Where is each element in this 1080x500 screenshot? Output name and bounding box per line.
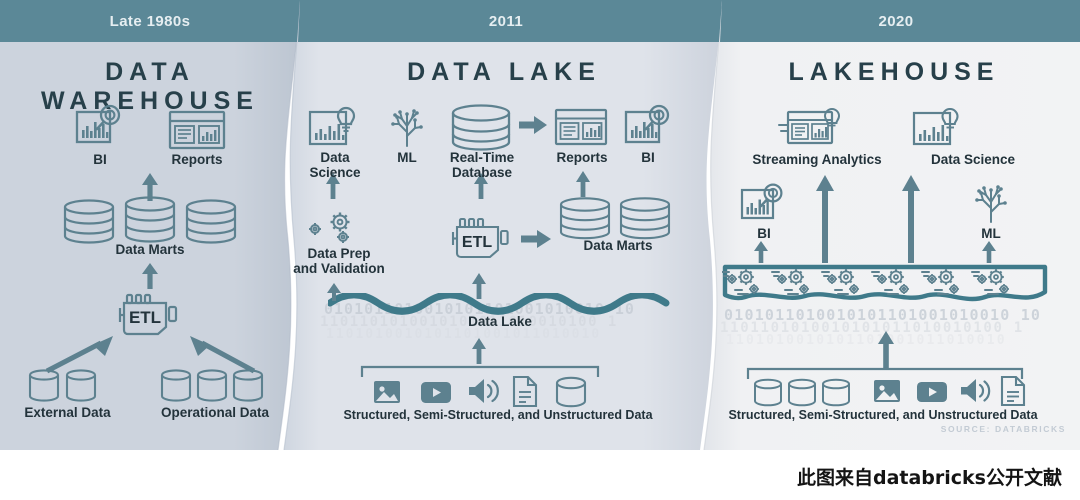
lake-binary-row-3: 1101010010101101001011010010 [326,327,601,342]
arrow-engine-to-datascience [900,174,922,269]
document-file-icon-lakehouse [1000,376,1026,411]
column-title-data-lake: DATA LAKE [288,58,720,87]
lakehouse-sources-label: Structured, Semi-Structured, and Unstruc… [690,408,1080,423]
ml-label: ML [377,150,437,165]
external-data-label: External Data [5,405,130,420]
bi-label-lakehouse: BI [734,226,794,241]
realtime-database-line1: Real-Time [450,150,514,165]
data-science-label-lakehouse: Data Science [898,152,1048,167]
reports-label: Reports [157,152,237,167]
reports-label-lake: Reports [544,150,620,165]
arrow-realtime-to-reports [518,114,548,141]
image-file-icon-lakehouse [872,378,902,410]
data-prep-line2: and Validation [293,261,385,276]
streaming-analytics-label: Streaming Analytics [732,152,902,167]
era-label-data-lake: 2011 [290,0,722,42]
image-file-icon [372,378,402,411]
figure-caption: 此图来自databricks公开文献 [0,452,1080,500]
lakehouse-binary-row-3: 1101010010101101001011010010 [726,333,1007,348]
bi-icon-lake [624,104,674,155]
ml-label-lakehouse: ML [968,226,1014,241]
svg-text:ETL: ETL [129,308,161,327]
data-science-icon [308,106,360,155]
realtime-database-label: Real-Time Database [434,150,530,180]
audio-file-icon [466,376,500,411]
era-label-lakehouse: 2020 [712,0,1080,42]
era-label-data-warehouse: Late 1980s [0,0,300,42]
data-lake-sources-label: Structured, Semi-Structured, and Unstruc… [286,408,710,423]
arrow-lake-to-prep [326,282,342,307]
bi-icon-lakehouse [740,182,788,231]
arrow-engine-to-streaming [814,174,836,269]
reports-icon-lake [554,108,608,151]
data-science-label-line1: Data [320,150,349,165]
streaming-analytics-icon [778,108,844,155]
lakehouse-engine-box [722,264,1048,315]
document-file-icon [512,376,538,412]
svg-text:ETL: ETL [462,234,492,251]
video-file-icon-lakehouse [916,381,948,408]
arrow-etl-to-marts-lake [520,228,552,255]
operational-data-label: Operational Data [145,405,285,420]
ml-icon [384,106,430,155]
column-lakehouse: 2020 LAKEHOUSE [690,0,1080,450]
etl-icon: ETL [113,291,189,346]
data-lake-label: Data Lake [440,314,560,329]
video-file-icon [420,381,452,409]
column-data-lake: 2011 DATA LAKE Data Science [272,0,722,450]
bi-icon [75,104,125,155]
audio-file-icon-lakehouse [958,376,992,410]
column-title-lakehouse: LAKEHOUSE [710,58,1078,87]
bi-label-lake: BI [624,150,672,165]
external-data-icon [26,368,104,409]
data-marts-label-lake: Data Marts [560,238,676,253]
column-title-data-warehouse: DATA WAREHOUSE [0,58,300,116]
etl-icon-lake: ETL [447,216,519,269]
ml-icon-lakehouse [968,182,1014,231]
data-science-label-line2: Science [309,165,360,180]
bi-label: BI [60,152,140,167]
reports-icon [168,110,226,155]
operational-data-icon [158,368,270,409]
column-data-warehouse: Late 1980s DATA WAREHOUSE BI [0,0,300,450]
lakehouse-evolution-diagram: Late 1980s DATA WAREHOUSE BI [0,0,1080,500]
data-science-icon-lakehouse [912,108,964,155]
data-prep-line1: Data Prep [307,246,370,261]
source-note: SOURCE: DATABRICKS [941,424,1066,434]
data-marts-label: Data Marts [90,242,210,257]
data-science-label: Data Science [290,150,380,180]
arrow-lake-to-etl [470,272,488,305]
realtime-database-line2: Database [452,165,512,180]
